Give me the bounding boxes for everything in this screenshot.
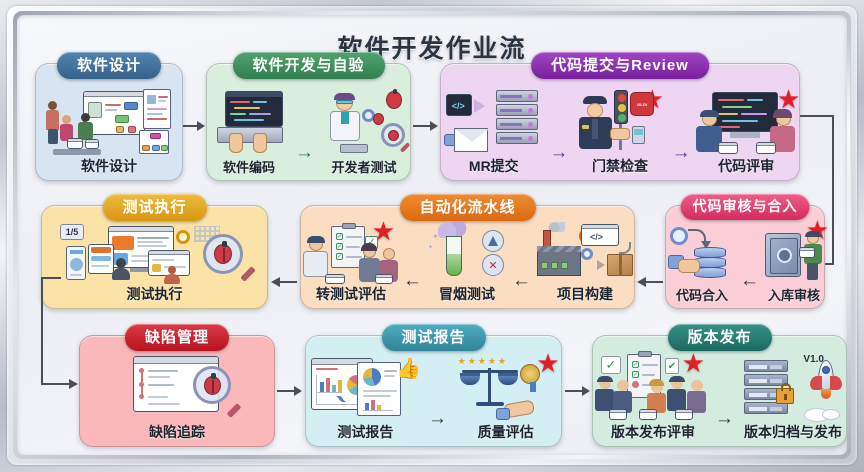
group-header-software-development: 软件开发与自验 — [232, 52, 384, 79]
charts-report-thumbsup-icon: 👍 — [309, 352, 421, 422]
test-tube-smoke-icon: ✕ ✦ ✦ — [426, 222, 508, 284]
group-test-report[interactable]: 测试报告 — [305, 335, 562, 447]
lock-icon — [776, 388, 794, 404]
merge-request-envelope-icon: </> — [444, 88, 544, 156]
bug-tracking-window-icon — [117, 352, 237, 422]
team-design-board-icon — [45, 87, 173, 155]
group-header-defect-management: 缺陷管理 — [125, 324, 229, 351]
safe-vault-audit-icon: ★ — [763, 223, 825, 285]
diagram-canvas: 软件开发作业流 软件设计 — [17, 15, 847, 455]
node-mr-submit[interactable]: </> MR提交 — [442, 88, 546, 176]
connector-testexec-to-defect — [19, 277, 79, 409]
multi-device-test-bug-icon: 1/5 — [52, 222, 257, 284]
scientist-bug-test-icon — [322, 89, 406, 157]
node-label: 门禁检查 — [592, 156, 648, 176]
node-label: 缺陷追踪 — [149, 422, 205, 442]
group-software-development[interactable]: 软件开发与自验 — [206, 63, 411, 181]
node-software-coding[interactable]: 软件编码 — [209, 89, 289, 176]
node-release-review[interactable]: ★ ✓ ✓ ✓ ✔ — [593, 352, 713, 442]
server-rocket-release-icon: V1.0 — [738, 352, 847, 422]
node-label: 测试报告 — [337, 422, 393, 442]
node-project-build[interactable]: </> 项目构建 — [533, 222, 637, 304]
thumbs-up-icon: 👍 — [396, 356, 421, 381]
inner-arrow-submit-1: → — [547, 142, 570, 176]
balance-scale-quality-icon: ★ ★★★★★ — [454, 352, 558, 422]
star-badge: ★ — [536, 350, 559, 376]
gate-badge: MLDI — [630, 92, 654, 116]
group-header-version-release: 版本发布 — [667, 324, 771, 351]
node-label: 代码合入 — [676, 285, 728, 304]
group-header-automation-pipeline: 自动化流水线 — [399, 194, 535, 221]
connector-report-to-release — [565, 386, 591, 396]
star-badge: ★ — [682, 350, 705, 376]
rocket-icon — [806, 360, 846, 404]
connector-design-to-dev — [183, 121, 205, 131]
group-header-test-execution: 测试执行 — [102, 194, 206, 221]
inner-arrow-submit-2: → — [670, 142, 693, 176]
connector-dev-to-submit — [413, 121, 439, 131]
connector-defect-to-report — [277, 386, 303, 396]
group-defect-management[interactable]: 缺陷管理 — [79, 335, 275, 447]
group-header-code-submit-review: 代码提交与Review — [531, 52, 709, 79]
inner-arrow-pipeline-1: ← — [401, 270, 424, 304]
node-label: 版本归档与发布 — [744, 422, 842, 442]
node-test-execution[interactable]: 1/5 — [50, 222, 259, 304]
node-label: 代码评审 — [718, 156, 774, 176]
group-header-software-design: 软件设计 — [57, 52, 161, 79]
bug-magnifier-icon — [193, 366, 231, 404]
group-code-audit-merge[interactable]: 代码审核与合入 代 — [665, 205, 825, 309]
window-frame: 软件开发作业流 软件设计 — [0, 0, 864, 472]
node-label: 质量评估 — [478, 422, 534, 442]
connector-pipeline-to-testexec — [271, 277, 297, 287]
release-review-team-icon: ★ ✓ ✓ ✓ ✔ — [595, 352, 711, 422]
merge-database-hand-icon — [668, 223, 736, 285]
node-label: 入库审核 — [768, 285, 820, 304]
inner-arrow-pipeline-2: ← — [510, 270, 533, 304]
inner-arrow-dev-1: → — [293, 142, 316, 176]
bug-icon — [386, 91, 402, 109]
node-label: 软件设计 — [81, 156, 137, 176]
node-label: 版本发布评审 — [611, 422, 695, 442]
inner-arrow-audit-1: ← — [738, 270, 761, 304]
node-code-merge[interactable]: 代码合入 — [666, 223, 738, 304]
test-progress-badge: 1/5 — [60, 224, 84, 240]
node-quality-eval[interactable]: ★ ★★★★★ — [452, 352, 560, 442]
node-label: 项目构建 — [557, 284, 613, 304]
node-code-review[interactable]: ★ — [694, 88, 798, 176]
group-version-release[interactable]: 版本发布 ★ ✓ ✓ ✓ — [592, 335, 847, 447]
rating-stars: ★★★★★ — [458, 356, 508, 367]
node-test-report[interactable]: 👍 测试报告 — [307, 352, 423, 442]
checklist-review-team-icon: ★ ✓ ✓ ✓ ✓ — [303, 222, 399, 284]
node-defect-tracking[interactable]: 缺陷追踪 — [115, 352, 239, 442]
inner-arrow-report-1: → — [426, 408, 449, 442]
node-gate-check[interactable]: ★ — [572, 88, 668, 176]
node-test-transfer-eval[interactable]: ★ ✓ ✓ ✓ ✓ — [301, 222, 401, 304]
node-label: 测试执行 — [127, 284, 183, 304]
gate-guard-traffic-light-icon: ★ — [574, 88, 666, 156]
keyboard-code-icon — [211, 89, 287, 157]
node-label: 开发者测试 — [331, 157, 396, 176]
pair-code-review-icon: ★ — [696, 88, 796, 156]
node-archive-release[interactable]: V1.0 — [736, 352, 847, 442]
bug-magnifier-icon — [203, 234, 243, 274]
group-header-test-report: 测试报告 — [381, 324, 485, 351]
factory-build-package-icon: </> — [535, 222, 635, 284]
group-code-submit-review[interactable]: 代码提交与Review </> — [440, 63, 800, 181]
group-software-design[interactable]: 软件设计 — [35, 63, 183, 181]
group-automation-pipeline[interactable]: 自动化流水线 ★ ✓ ✓ ✓ ✓ — [300, 205, 635, 309]
node-label: MR提交 — [469, 156, 519, 176]
inner-arrow-release-1: → — [713, 408, 736, 442]
node-software-design[interactable]: 软件设计 — [43, 87, 175, 176]
group-header-code-audit-merge: 代码审核与合入 — [681, 194, 810, 220]
node-label: 转测试评估 — [316, 284, 386, 304]
node-label: 软件编码 — [223, 157, 275, 176]
connector-audit-to-pipeline — [637, 277, 663, 287]
node-smoke-test[interactable]: ✕ ✦ ✦ 冒烟测试 — [424, 222, 510, 304]
node-repo-audit[interactable]: ★ 入库审核 — [761, 223, 827, 304]
node-developer-test[interactable]: 开发者测试 — [320, 89, 408, 176]
node-label: 冒烟测试 — [439, 284, 495, 304]
